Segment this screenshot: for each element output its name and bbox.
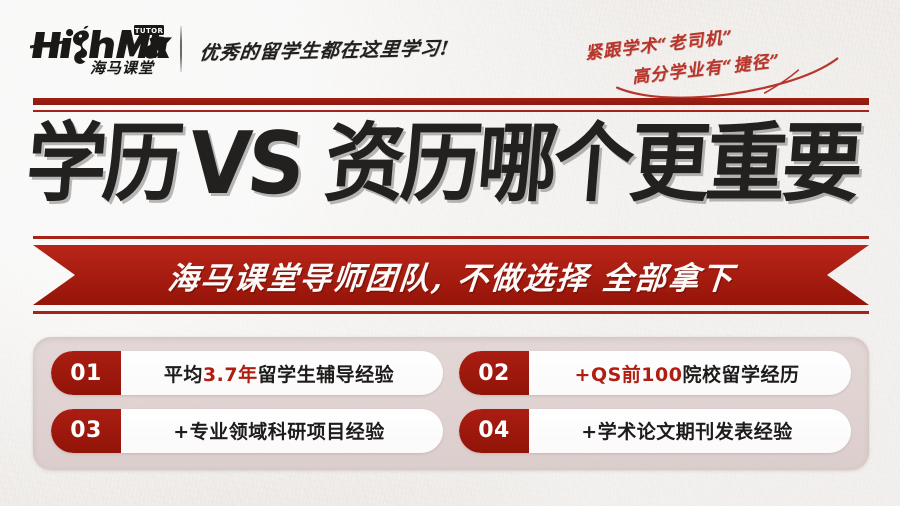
svg-text:TUTOR: TUTOR bbox=[135, 27, 164, 35]
ribbon-rule-bottom bbox=[33, 311, 869, 314]
feature-text-post: 院校留学经历 bbox=[682, 360, 799, 387]
feature-text-04: +学术论文期刊发表经验 bbox=[529, 409, 851, 453]
feature-text-post: 留学生辅导经验 bbox=[258, 360, 395, 387]
header: TUTOR 海马课堂 优秀的留学生都在这里学习! 紧跟学术“老司机” 高分学业有… bbox=[0, 0, 900, 96]
header-tagline: 优秀的留学生都在这里学习! bbox=[198, 34, 451, 66]
ribbon-band: 海马课堂导师团队, 不做选择 全部拿下 bbox=[33, 245, 869, 305]
feature-number-01: 01 bbox=[51, 351, 121, 395]
corner-slogan: 紧跟学术“老司机” 高分学业有“捷径” bbox=[583, 5, 888, 101]
seahorse-icon bbox=[73, 26, 89, 64]
feature-text-03: +专业领域科研项目经验 bbox=[121, 409, 443, 453]
logo-chinese-name: 海马课堂 bbox=[90, 59, 155, 76]
feature-text-post: +专业领域科研项目经验 bbox=[173, 417, 384, 444]
highmark-logo-mark: TUTOR 海马课堂 bbox=[30, 24, 172, 76]
headline-part2: 资历哪个更重要 bbox=[322, 122, 863, 206]
rule-thick bbox=[33, 98, 869, 105]
ribbon-banner: 海马课堂导师团队, 不做选择 全部拿下 bbox=[33, 236, 869, 314]
feature-item-02[interactable]: 02 +QS前100院校留学经历 bbox=[459, 351, 851, 395]
feature-number-02: 02 bbox=[459, 351, 529, 395]
feature-number-04: 04 bbox=[459, 409, 529, 453]
feature-text-02: +QS前100院校留学经历 bbox=[529, 351, 851, 395]
ribbon-rule-top bbox=[33, 236, 869, 239]
features-panel: 01 平均3.7年留学生辅导经验 02 +QS前100院校留学经历 03 +专业… bbox=[33, 337, 869, 470]
feature-item-03[interactable]: 03 +专业领域科研项目经验 bbox=[51, 409, 443, 453]
header-divider bbox=[180, 26, 182, 72]
brand-logo[interactable]: TUTOR 海马课堂 bbox=[30, 24, 172, 76]
feature-text-01: 平均3.7年留学生辅导经验 bbox=[121, 351, 443, 395]
feature-item-04[interactable]: 04 +学术论文期刊发表经验 bbox=[459, 409, 851, 453]
feature-text-highlight: +QS前100 bbox=[575, 360, 683, 387]
tutor-badge: TUTOR bbox=[134, 25, 164, 35]
feature-text-post: +学术论文期刊发表经验 bbox=[581, 417, 792, 444]
feature-text-pre: 平均 bbox=[164, 360, 203, 387]
feature-text-highlight: 3.7年 bbox=[203, 360, 258, 387]
headline-vs: VS bbox=[186, 122, 305, 206]
main-headline: 学历VS资历哪个更重要 bbox=[0, 112, 900, 216]
banner-canvas: TUTOR 海马课堂 优秀的留学生都在这里学习! 紧跟学术“老司机” 高分学业有… bbox=[0, 0, 900, 506]
headline-part1: 学历 bbox=[23, 122, 182, 206]
ribbon-text: 海马课堂导师团队, 不做选择 全部拿下 bbox=[166, 253, 736, 298]
feature-item-01[interactable]: 01 平均3.7年留学生辅导经验 bbox=[51, 351, 443, 395]
header-rules bbox=[33, 98, 869, 112]
feature-number-03: 03 bbox=[51, 409, 121, 453]
